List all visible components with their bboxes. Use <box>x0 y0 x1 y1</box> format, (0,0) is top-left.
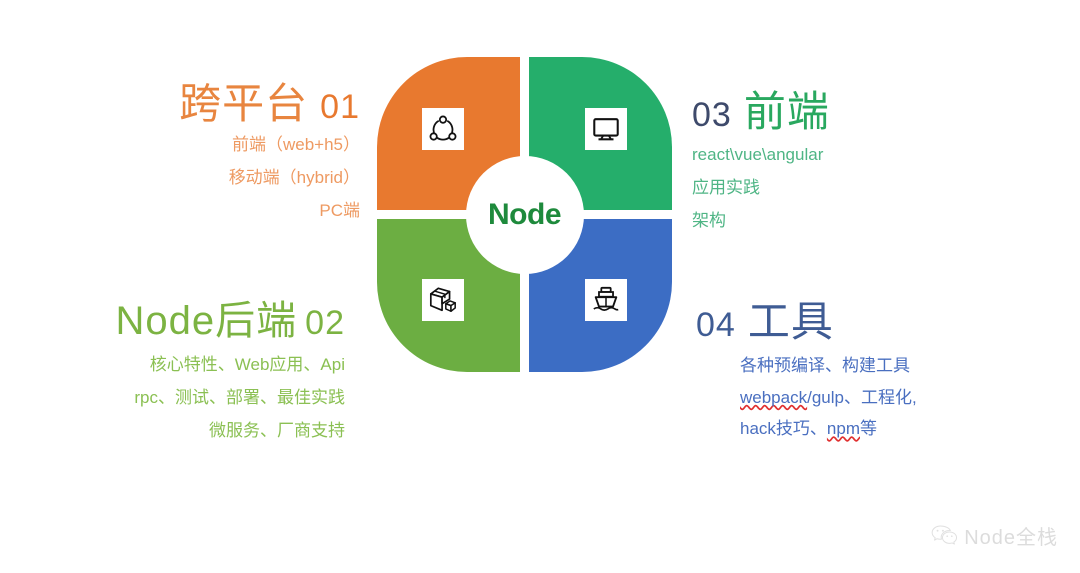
quadrant-03-heading: 03 前端 <box>692 90 992 134</box>
watermark: Node全栈 <box>931 524 1058 551</box>
package-box-icon <box>422 279 464 321</box>
quadrant-02-lines: 核心特性、Web应用、Api rpc、测试、部署、最佳实践 微服务、厂商支持 <box>35 348 345 447</box>
quadrant-02-title: Node后端 <box>116 300 298 342</box>
quadrant-04-line-2: webpack/gulp、工程化, <box>740 382 1026 413</box>
node-center-label: Node <box>488 200 561 230</box>
quadrant-02-line-1: 核心特性、Web应用、Api <box>35 348 345 381</box>
quadrant-01-title: 跨平台 <box>179 82 308 126</box>
quadrant-04-line-3: hack技巧、npm等 <box>740 413 1026 444</box>
quadrant-04-title: 工具 <box>748 300 834 344</box>
quadrant-04-line-2-rest: /gulp、工程化, <box>807 388 917 407</box>
quadrant-01-lines: 前端（web+h5） 移动端（hybrid） PC端 <box>110 128 360 227</box>
wechat-icon <box>931 524 957 551</box>
quadrant-04-heading: 04 工具 <box>696 300 1026 344</box>
quadrant-04-lines: 各种预编译、构建工具 webpack/gulp、工程化, hack技巧、npm等 <box>740 350 1026 444</box>
quadrant-03-number: 03 <box>692 98 732 132</box>
quadrant-04-line-3-post: 等 <box>860 419 877 438</box>
misspelled-word-npm: npm <box>827 419 860 438</box>
node-flower-diagram: Node <box>377 57 672 372</box>
quadrant-03-line-1: react\vue\angular <box>692 138 992 171</box>
quadrant-02-number: 02 <box>305 306 345 340</box>
quadrant-04-line-1: 各种预编译、构建工具 <box>740 350 1026 381</box>
quadrant-tools: 04 工具 各种预编译、构建工具 webpack/gulp、工程化, hack技… <box>696 300 1026 444</box>
quadrant-01-number: 01 <box>320 90 360 124</box>
quadrant-01-heading: 跨平台 01 <box>110 82 360 126</box>
quadrant-02-line-2: rpc、测试、部署、最佳实践 <box>35 381 345 414</box>
quadrant-node-backend: Node后端 02 核心特性、Web应用、Api rpc、测试、部署、最佳实践 … <box>35 300 345 447</box>
quadrant-01-line-3: PC端 <box>110 194 360 227</box>
quadrant-01-line-2: 移动端（hybrid） <box>110 161 360 194</box>
watermark-text: Node全栈 <box>964 528 1058 548</box>
ship-icon <box>585 279 627 321</box>
quadrant-frontend: 03 前端 react\vue\angular 应用实践 架构 <box>692 90 992 238</box>
quadrant-03-line-3: 架构 <box>692 204 992 237</box>
share-network-icon <box>422 108 464 150</box>
slide-canvas: { "center": { "label": "Node", "color": … <box>0 0 1080 573</box>
quadrant-cross-platform: 跨平台 01 前端（web+h5） 移动端（hybrid） PC端 <box>110 82 360 228</box>
quadrant-01-line-1: 前端（web+h5） <box>110 128 360 161</box>
quadrant-03-title: 前端 <box>744 90 830 134</box>
quadrant-02-heading: Node后端 02 <box>35 300 345 342</box>
quadrant-04-number: 04 <box>696 308 736 342</box>
quadrant-04-line-3-pre: hack技巧、 <box>740 419 827 438</box>
quadrant-02-line-3: 微服务、厂商支持 <box>35 414 345 447</box>
node-center-circle: Node <box>466 156 584 274</box>
misspelled-word-webpack: webpack <box>740 388 807 407</box>
quadrant-03-lines: react\vue\angular 应用实践 架构 <box>692 138 992 237</box>
quadrant-03-line-2: 应用实践 <box>692 171 992 204</box>
monitor-icon <box>585 108 627 150</box>
